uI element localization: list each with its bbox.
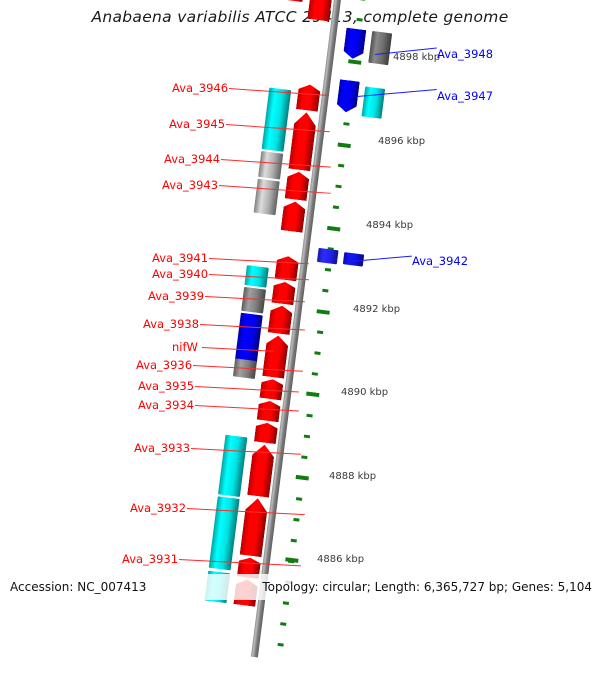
ruler-tick-minor [359, 0, 365, 1]
gene-label-ava_3948[interactable]: Ava_3948 [437, 47, 493, 61]
status-bar: Accession: NC_007413 Topology: circular;… [0, 574, 600, 600]
ruler-tick-minor [277, 643, 283, 647]
gene-glyph-forward[interactable] [368, 31, 392, 65]
ruler-label: 4892 kbp [353, 304, 400, 315]
gene-glyph-forward[interactable] [296, 83, 321, 112]
ruler-tick-minor [317, 330, 323, 334]
gene-glyph-forward[interactable] [254, 179, 280, 215]
ruler-tick-minor [306, 414, 312, 418]
ruler-tick-major [316, 309, 329, 315]
ruler-tick-minor [283, 601, 289, 605]
ruler-label: 4886 kbp [317, 554, 364, 565]
gene-glyph-forward[interactable] [285, 170, 310, 201]
gene-label-ava_3940[interactable]: Ava_3940 [152, 267, 208, 281]
ruler-label: 4894 kbp [366, 220, 413, 231]
gene-glyph-forward[interactable] [218, 435, 247, 497]
genome-track-panel[interactable] [0, 0, 600, 635]
gene-label-ava_3943[interactable]: Ava_3943 [162, 178, 218, 192]
gene-label-ava_3945[interactable]: Ava_3945 [169, 117, 225, 131]
ruler-tick-minor [314, 351, 320, 355]
gene-glyph-forward[interactable] [307, 0, 333, 21]
ruler-label: 4896 kbp [378, 136, 425, 147]
gene-glyph-forward[interactable] [254, 421, 278, 444]
ruler-tick-minor [280, 622, 286, 626]
gene-label-nifw[interactable]: nifW [172, 340, 198, 354]
gene-glyph-forward[interactable] [209, 496, 240, 570]
ruler-tick-minor [333, 205, 339, 209]
ruler-tick-minor [291, 539, 297, 543]
gene-glyph-reverse[interactable] [343, 28, 367, 60]
gene-glyph-forward[interactable] [268, 304, 293, 335]
gene-glyph-forward[interactable] [258, 151, 283, 180]
gene-label-ava_3936[interactable]: Ava_3936 [136, 358, 192, 372]
gene-label-ava_3944[interactable]: Ava_3944 [164, 152, 220, 166]
ruler-tick-minor [343, 122, 349, 126]
ruler-tick-minor [296, 497, 302, 501]
gene-label-ava_3946[interactable]: Ava_3946 [172, 81, 228, 95]
gene-glyph-forward[interactable] [262, 334, 289, 378]
ruler-tick-minor [325, 268, 331, 272]
gene-label-ava_3938[interactable]: Ava_3938 [143, 317, 199, 331]
ruler-tick-minor [356, 18, 362, 22]
genome-viewer: Anabaena variabilis ATCC 29413, complete… [0, 0, 600, 600]
gene-label-ava_3935[interactable]: Ava_3935 [138, 379, 194, 393]
ruler-label: 4898 kbp [393, 52, 440, 63]
ruler-tick-major [306, 392, 319, 398]
gene-glyph-forward[interactable] [257, 400, 281, 423]
gene-glyph-reverse[interactable] [235, 313, 263, 363]
ruler-tick-minor [301, 455, 307, 459]
ruler-tick-minor [304, 435, 310, 439]
ruler-label: 4888 kbp [329, 471, 376, 482]
ruler-tick-major [296, 475, 309, 481]
ruler-tick-minor [322, 289, 328, 293]
ruler-tick-major [338, 143, 351, 149]
gene-glyph-forward[interactable] [281, 200, 307, 233]
ruler-tick-minor [335, 185, 341, 189]
ruler-tick-minor [288, 560, 294, 564]
gene-label-ava_3931[interactable]: Ava_3931 [122, 552, 178, 566]
gene-glyph-forward[interactable] [262, 87, 292, 151]
gene-glyph-reverse[interactable] [317, 248, 339, 264]
ruler-tick-major [348, 59, 361, 65]
ruler-tick-minor [312, 372, 318, 376]
gene-glyph-forward[interactable] [281, 0, 306, 2]
topology-text: Topology: circular; Length: 6,365,727 bp… [262, 580, 592, 594]
gene-label-ava_3942[interactable]: Ava_3942 [412, 254, 468, 268]
gene-label-ava_3939[interactable]: Ava_3939 [148, 289, 204, 303]
gene-glyph-forward[interactable] [241, 287, 266, 314]
ruler-tick-major [327, 226, 340, 232]
gene-label-ava_3941[interactable]: Ava_3941 [152, 251, 208, 265]
gene-label-ava_3933[interactable]: Ava_3933 [134, 441, 190, 455]
gene-label-ava_3932[interactable]: Ava_3932 [130, 501, 186, 515]
gene-label-ava_3934[interactable]: Ava_3934 [138, 398, 194, 412]
accession-text: Accession: NC_007413 [10, 580, 146, 594]
ruler-tick-minor [338, 164, 344, 168]
gene-glyph-forward[interactable] [362, 86, 386, 118]
ruler-label: 4890 kbp [341, 387, 388, 398]
gene-label-ava_3947[interactable]: Ava_3947 [437, 89, 493, 103]
ruler-tick-minor [293, 518, 299, 522]
